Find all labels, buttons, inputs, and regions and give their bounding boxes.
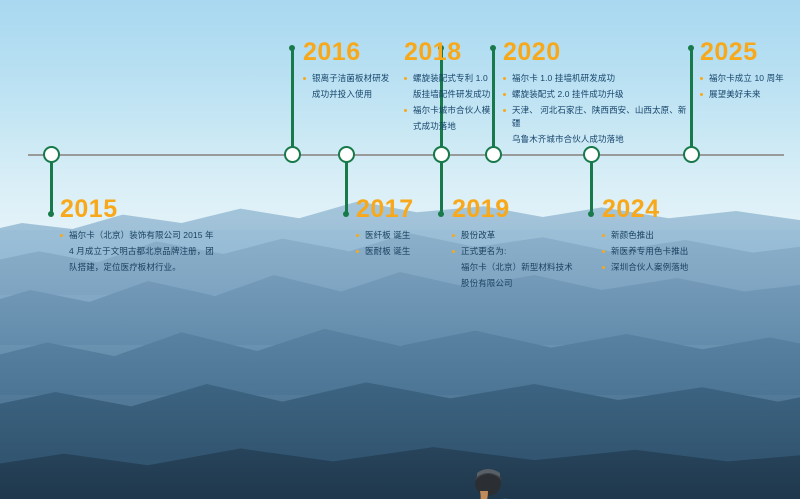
bullet-item: 医耐板 诞生 — [356, 245, 451, 258]
bullet-item: 深圳合伙人案例落地 — [602, 261, 722, 274]
bullet-item-cont: 股份有限公司 — [452, 277, 577, 290]
bullet-item: 医纤板 诞生 — [356, 229, 451, 242]
stem-2017 — [345, 162, 348, 214]
bullet-item: 银离子洁菌板材研发 — [303, 72, 398, 85]
bullet-item-cont: 4 月成立于文明古都北京品牌注册，团 — [60, 245, 220, 258]
year-label-2019: 2019 — [452, 197, 577, 222]
year-label-2020: 2020 — [503, 40, 688, 65]
timeline-entry-2025: 2025 福尔卡成立 10 周年 展望美好未来 — [700, 40, 800, 104]
year-label-2018: 2018 — [404, 40, 496, 65]
year-label-2016: 2016 — [303, 40, 398, 65]
node-2019[interactable] — [433, 146, 450, 163]
year-label-2024: 2024 — [602, 197, 722, 222]
timeline-entry-2015: 2015 福尔卡（北京）装饰有限公司 2015 年 4 月成立于文明古都北京品牌… — [60, 197, 220, 277]
node-2017[interactable] — [338, 146, 355, 163]
bullet-item: 螺旋装配式专利 1.0 — [404, 72, 496, 85]
timeline-entry-2024: 2024 新颜色推出 新医养专用色卡推出 深圳合伙人案例落地 — [602, 197, 722, 277]
bullet-item: 螺旋装配式 2.0 挂件成功升级 — [503, 88, 688, 101]
bullet-item: 新颜色推出 — [602, 229, 722, 242]
year-label-2017: 2017 — [356, 197, 451, 222]
stem-2015 — [50, 162, 53, 214]
timeline-infographic: 2016 银离子洁菌板材研发 成功并投入使用 2018 螺旋装配式专利 1.0 … — [0, 0, 800, 499]
node-2024[interactable] — [583, 146, 600, 163]
bullet-item: 股份改革 — [452, 229, 577, 242]
bullet-list-2019: 股份改革 正式更名为: 福尔卡（北京）新型材料技术 股份有限公司 — [452, 229, 577, 290]
node-2016[interactable] — [284, 146, 301, 163]
timeline-entry-2020: 2020 福尔卡 1.0 挂墙机研发成功 螺旋装配式 2.0 挂件成功升级 天津… — [503, 40, 688, 149]
bullet-item-cont: 式成功落地 — [404, 120, 496, 133]
stem-dot-2025 — [688, 45, 694, 51]
bullet-list-2018: 螺旋装配式专利 1.0 版挂墙配件研发成功 福尔卡城市合伙人模 式成功落地 — [404, 72, 496, 133]
stem-2024 — [590, 162, 593, 214]
stem-dot-2016 — [289, 45, 295, 51]
timeline-entry-2017: 2017 医纤板 诞生 医耐板 诞生 — [356, 197, 451, 261]
timeline-entry-2018: 2018 螺旋装配式专利 1.0 版挂墙配件研发成功 福尔卡城市合伙人模 式成功… — [404, 40, 496, 136]
bullet-item: 福尔卡（北京）装饰有限公司 2015 年 — [60, 229, 220, 242]
bullet-item-cont: 福尔卡（北京）新型材料技术 — [452, 261, 577, 274]
bullet-item: 福尔卡城市合伙人模 — [404, 104, 496, 117]
bullet-item: 天津、 河北石家庄、陕西西安、山西太原、新疆 — [503, 104, 688, 130]
bullet-item-cont: 队搭建，定位医疗板材行业。 — [60, 261, 220, 274]
stem-dot-2024 — [588, 211, 594, 217]
bullet-list-2024: 新颜色推出 新医养专用色卡推出 深圳合伙人案例落地 — [602, 229, 722, 274]
bullet-item: 新医养专用色卡推出 — [602, 245, 722, 258]
stem-dot-2017 — [343, 211, 349, 217]
bullet-list-2020: 福尔卡 1.0 挂墙机研发成功 螺旋装配式 2.0 挂件成功升级 天津、 河北石… — [503, 72, 688, 146]
node-2015[interactable] — [43, 146, 60, 163]
bullet-item: 正式更名为: — [452, 245, 577, 258]
bullet-item: 福尔卡 1.0 挂墙机研发成功 — [503, 72, 688, 85]
bullet-item: 展望美好未来 — [700, 88, 800, 101]
bullet-list-2017: 医纤板 诞生 医耐板 诞生 — [356, 229, 451, 258]
hiker-figure — [430, 455, 550, 499]
node-2025[interactable] — [683, 146, 700, 163]
bullet-item-cont: 版挂墙配件研发成功 — [404, 88, 496, 101]
bullet-list-2025: 福尔卡成立 10 周年 展望美好未来 — [700, 72, 800, 101]
stem-2016 — [291, 48, 294, 148]
bullet-item: 福尔卡成立 10 周年 — [700, 72, 800, 85]
bullet-item-cont: 成功并投入使用 — [303, 88, 398, 101]
timeline-entry-2019: 2019 股份改革 正式更名为: 福尔卡（北京）新型材料技术 股份有限公司 — [452, 197, 577, 293]
stem-2025 — [690, 48, 693, 148]
stem-dot-2015 — [48, 211, 54, 217]
node-2020[interactable] — [485, 146, 502, 163]
timeline-entry-2016: 2016 银离子洁菌板材研发 成功并投入使用 — [303, 40, 398, 104]
bullet-list-2016: 银离子洁菌板材研发 成功并投入使用 — [303, 72, 398, 101]
year-label-2015: 2015 — [60, 197, 220, 222]
bullet-item-cont: 乌鲁木齐城市合伙人成功落地 — [503, 133, 688, 146]
timeline-axis — [28, 154, 784, 156]
year-label-2025: 2025 — [700, 40, 800, 65]
bullet-list-2015: 福尔卡（北京）装饰有限公司 2015 年 4 月成立于文明古都北京品牌注册，团 … — [60, 229, 220, 274]
